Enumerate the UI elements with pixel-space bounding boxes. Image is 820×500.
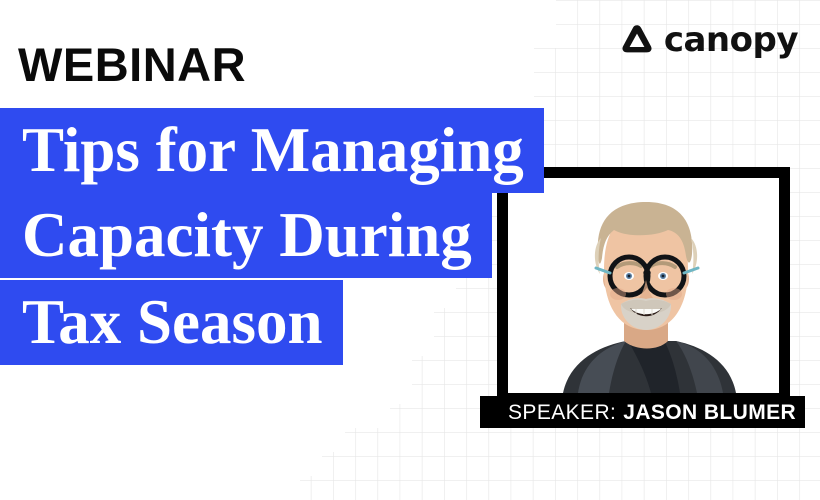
webinar-promo-canvas: canopy WEBINAR Tips for Managing Capacit… bbox=[0, 0, 820, 500]
speaker-photo-frame bbox=[497, 167, 790, 404]
headline-line-1: Tips for Managing bbox=[0, 108, 544, 193]
portrait-illustration bbox=[508, 178, 779, 393]
headline-line-3: Tax Season bbox=[0, 280, 343, 365]
eyebrow-label: WEBINAR bbox=[18, 41, 246, 88]
triangle-delta-icon bbox=[619, 22, 655, 58]
headline-line-2: Capacity During bbox=[0, 193, 492, 278]
speaker-role-label: SPEAKER: bbox=[508, 402, 616, 423]
speaker-name-label: JASON BLUMER bbox=[623, 402, 796, 423]
logo-wordmark: canopy bbox=[664, 23, 798, 57]
speaker-photo bbox=[508, 178, 779, 393]
canopy-logo: canopy bbox=[619, 22, 798, 58]
speaker-name-band: SPEAKER: JASON BLUMER bbox=[480, 396, 805, 428]
